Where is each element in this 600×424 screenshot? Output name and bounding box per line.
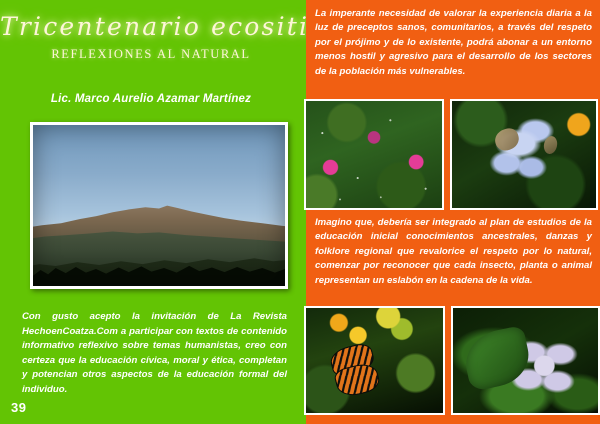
photo-row-bottom [306,306,600,415]
right-orange-panel: La imperante necesidad de valorar la exp… [306,0,600,424]
photo-flower-bud-secondary [542,135,558,155]
photo-blue-thunbergia [450,99,598,210]
magazine-subtitle: Reflexiones al natural [0,47,302,62]
photo-leaf-shape [460,325,534,392]
page-number: 39 [11,400,26,415]
photo-pink-zinnias [304,99,444,210]
magazine-title: Tricentenario ecositio [0,14,302,40]
author-byline: Lic. Marco Aurelio Azamar Martínez [0,93,302,105]
right-paragraph-1: La imperante necesidad de valorar la exp… [315,7,592,79]
photo-highlight-specks [306,101,442,208]
photo-row-top [306,99,600,210]
photo-vignette [33,125,285,286]
left-green-panel: Tricentenario ecositio Reflexiones al na… [0,0,302,424]
left-body-text: Con gusto acepto la invitación de La Rev… [22,310,287,397]
right-paragraph-2: Imagino que, debería ser integrado al pl… [315,216,592,288]
photo-monarch-butterfly [304,306,445,415]
mountain-photo-frame [30,122,288,289]
masthead: Tricentenario ecositio Reflexiones al na… [0,14,302,62]
butterfly-shape [328,342,379,397]
photo-flower-bud [492,126,522,154]
magazine-page-spread: Tricentenario ecositio Reflexiones al na… [0,0,600,424]
photo-mountain [33,125,285,286]
photo-violet-flower [451,306,600,415]
